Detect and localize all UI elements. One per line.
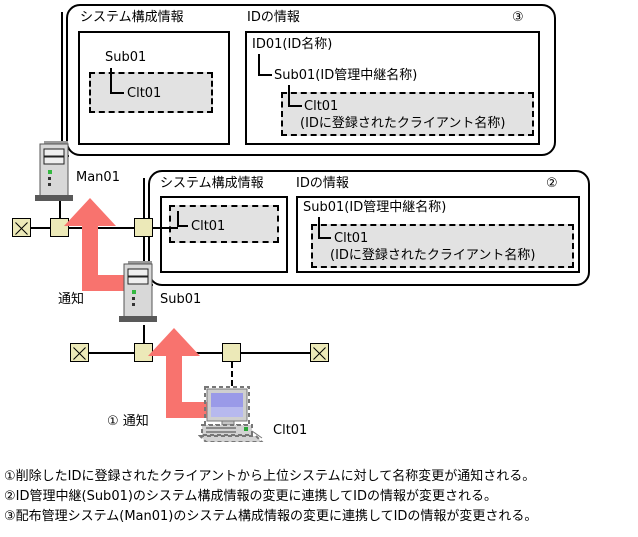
client-label-clt01: Clt01 xyxy=(273,423,307,438)
arrow-lower-label: ① 通知 xyxy=(107,414,149,429)
panel-2-sysconfig-elbow xyxy=(177,211,188,227)
legend-line-3: ③配布管理システム(Man01)のシステム構成情報の変更に連携してIDの情報が変… xyxy=(4,507,537,526)
panel-2-idinfo-elbow xyxy=(318,217,331,239)
panel-3-idinfo-node-id01: ID01(ID名称) xyxy=(252,37,332,52)
tap-lower-clt01 xyxy=(222,343,241,362)
panel-3-section-2-heading: IDの情報 xyxy=(247,10,300,25)
panel-2-number: ② xyxy=(546,176,558,191)
panel-2-idinfo-node-clt01-desc: (IDに登録されたクライアント名称) xyxy=(330,248,535,263)
panel-3-number: ③ xyxy=(512,10,524,25)
network-bus-upper-right xyxy=(150,227,178,229)
panel-3-section-1-heading: システム構成情報 xyxy=(80,10,184,25)
legend-line-2: ②ID管理中継(Sub01)のシステム構成情報の変更に連携してIDの情報が変更さ… xyxy=(4,487,497,506)
panel-3-idinfo-node-clt01: Clt01 xyxy=(304,99,338,114)
terminator-lower-left xyxy=(70,343,89,362)
droplink-clt01 xyxy=(231,362,233,386)
connector-man01-to-panel3-vertical xyxy=(61,12,63,156)
client-pc-icon-clt01 xyxy=(198,386,270,442)
panel-3-sysconfig-node-clt01: Clt01 xyxy=(127,86,161,101)
server-label-sub01: Sub01 xyxy=(160,292,201,307)
panel-2-section-2-heading: IDの情報 xyxy=(296,176,349,191)
droplink-sub01-upper xyxy=(143,236,145,260)
panel-2-idinfo-node-clt01: Clt01 xyxy=(334,231,368,246)
panel-3-sysconfig-elbow xyxy=(110,68,124,94)
legend-line-1: ①削除したIDに登録されたクライアントから上位システムに対して名称変更が通知され… xyxy=(4,467,535,486)
panel-3-sysconfig-node-sub01: Sub01 xyxy=(105,50,146,65)
panel-3-idinfo-elbow-1 xyxy=(258,54,272,76)
panel-2-section-1-heading: システム構成情報 xyxy=(160,176,264,191)
diagram-canvas: システム構成情報 IDの情報 ③ Sub01 Clt01 ID01(ID名称) … xyxy=(0,0,638,537)
terminator-upper-left xyxy=(12,218,31,237)
arrow-upper-label: 通知 xyxy=(58,292,84,307)
panel-3-idinfo-node-sub01: Sub01(ID管理中継名称) xyxy=(274,68,417,83)
panel-2-sysconfig-node-clt01: Clt01 xyxy=(191,219,225,234)
panel-3-idinfo-elbow-2 xyxy=(288,85,302,107)
server-icon-sub01 xyxy=(118,258,170,324)
server-label-man01: Man01 xyxy=(76,170,120,185)
panel-3-idinfo-node-clt01-desc: (IDに登録されたクライアント名称) xyxy=(300,116,505,131)
terminator-lower-right xyxy=(310,343,329,362)
panel-2-idinfo-node-sub01: Sub01(ID管理中継名称) xyxy=(303,200,446,215)
